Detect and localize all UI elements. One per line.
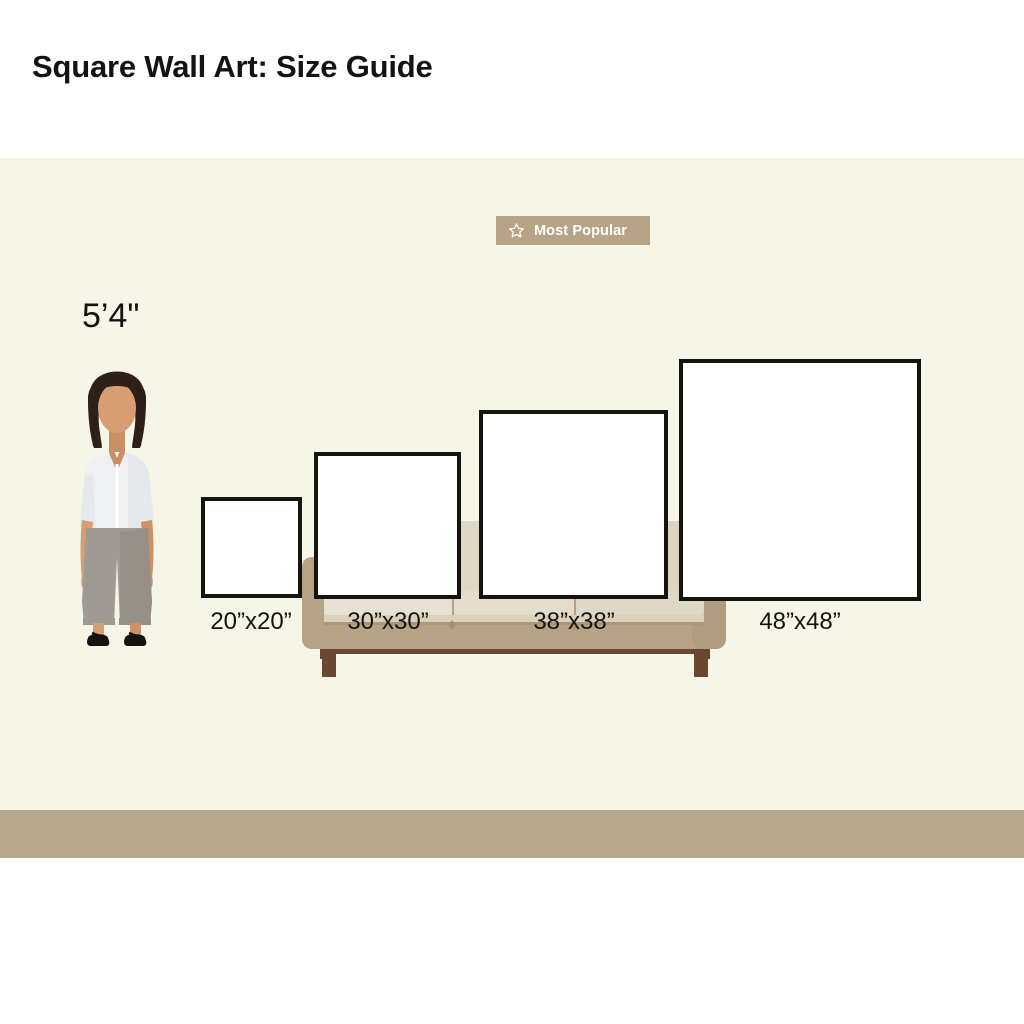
size-guide-canvas: Square Wall Art: Size Guide 5’4" [0,0,1024,1024]
frame-48x48[interactable] [679,359,921,601]
frame-20x20[interactable] [201,497,302,598]
person-figure [62,352,172,652]
frame-label-38x38: 38”x38” [533,608,614,636]
frame-label-20x20: 20”x20” [210,608,291,636]
frame-30x30[interactable] [314,452,461,599]
scene-floor [0,810,1024,858]
most-popular-label: Most Popular [534,223,627,239]
star-icon [508,222,525,239]
person-height-label: 5’4" [82,297,139,336]
frame-38x38[interactable] [479,410,668,599]
page-title: Square Wall Art: Size Guide [32,49,433,85]
most-popular-badge[interactable]: Most Popular [496,216,650,245]
frame-label-48x48: 48”x48” [759,608,840,636]
frame-label-30x30: 30”x30” [347,608,428,636]
